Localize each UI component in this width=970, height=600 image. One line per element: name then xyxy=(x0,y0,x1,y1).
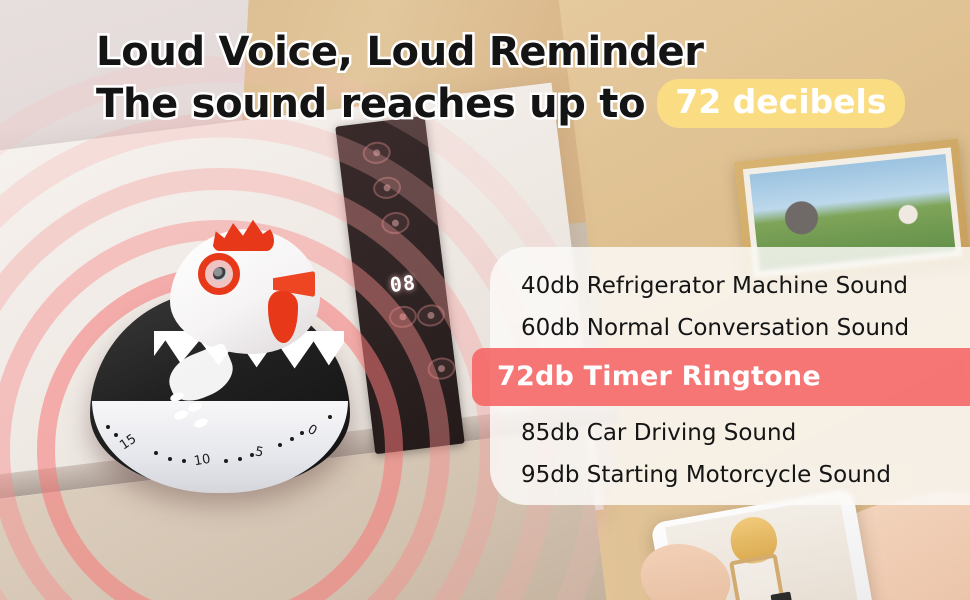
list-item: 85db Car Driving Sound xyxy=(521,419,796,447)
appliance-display: 08 xyxy=(382,269,425,298)
clock-icon xyxy=(380,210,410,235)
chicken-timer-product: 15 10 5 0 xyxy=(70,205,370,495)
list-item: 60db Normal Conversation Sound xyxy=(521,314,909,342)
display-value: 08 xyxy=(389,272,417,295)
timer-icon xyxy=(372,175,402,200)
list-item: 40db Refrigerator Machine Sound xyxy=(521,272,908,300)
highlighted-row-label: 72db Timer Ringtone xyxy=(497,360,821,394)
timer-spot-markings xyxy=(170,393,230,433)
list-item: 95db Starting Motorcycle Sound xyxy=(521,461,891,489)
power-icon xyxy=(361,140,391,165)
settings-icon xyxy=(416,303,446,328)
promo-banner: 08 xyxy=(0,0,970,600)
chevron-down-icon xyxy=(388,304,418,329)
dial-number-10: 10 xyxy=(193,452,212,470)
dial-number-15: 15 xyxy=(117,432,139,454)
lock-icon xyxy=(426,356,456,381)
dial-number-5: 5 xyxy=(254,444,265,460)
dial-number-0: 0 xyxy=(305,422,320,439)
timer-eye xyxy=(213,267,227,281)
